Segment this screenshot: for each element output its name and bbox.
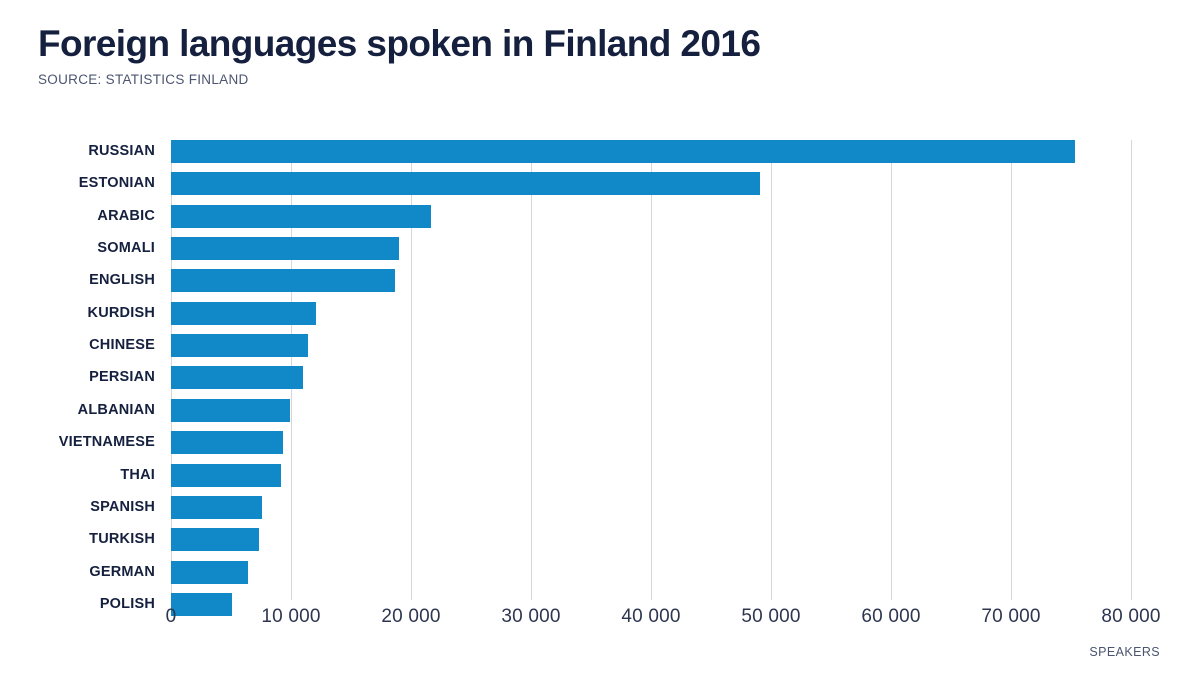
category-label: VIETNAMESE [0,431,155,454]
chart-source-note: SOURCE: STATISTICS FINLAND [38,72,1158,87]
category-label: ESTONIAN [0,172,155,195]
category-label: RUSSIAN [0,140,155,163]
bar [171,269,395,292]
x-tick-label: 60 000 [831,606,951,628]
bar-row: ARABIC [0,205,1200,228]
bar [171,399,290,422]
category-label: KURDISH [0,302,155,325]
x-tick-label: 50 000 [711,606,831,628]
bar-row: GERMAN [0,561,1200,584]
category-label: THAI [0,464,155,487]
page-title: Foreign languages spoken in Finland 2016 [38,22,1158,66]
chart-page: Foreign languages spoken in Finland 2016… [0,0,1200,675]
category-label: ENGLISH [0,269,155,292]
chart-header: Foreign languages spoken in Finland 2016… [38,22,1158,87]
bar [171,172,760,195]
x-tick-label: 10 000 [231,606,351,628]
x-axis: 010 00020 00030 00040 00050 00060 00070 … [0,606,1200,646]
category-label: GERMAN [0,561,155,584]
bar-row: ALBANIAN [0,399,1200,422]
category-label: CHINESE [0,334,155,357]
bar [171,431,283,454]
bar-row: THAI [0,464,1200,487]
bar [171,334,308,357]
category-label: SPANISH [0,496,155,519]
x-tick-label: 20 000 [351,606,471,628]
x-tick-label: 70 000 [951,606,1071,628]
plot-area: RUSSIANESTONIANARABICSOMALIENGLISHKURDIS… [0,136,1200,606]
category-label: ALBANIAN [0,399,155,422]
category-label: PERSIAN [0,366,155,389]
bar [171,205,431,228]
category-label: ARABIC [0,205,155,228]
bar [171,561,248,584]
bar-row: RUSSIAN [0,140,1200,163]
bar-row: ESTONIAN [0,172,1200,195]
bar-row: KURDISH [0,302,1200,325]
x-tick-label: 40 000 [591,606,711,628]
bar-row: SOMALI [0,237,1200,260]
bar [171,237,399,260]
bar [171,366,303,389]
bar-row: ENGLISH [0,269,1200,292]
bar [171,140,1075,163]
bar [171,496,262,519]
x-axis-caption: SPEAKERS [1000,645,1160,659]
bar-row: SPANISH [0,496,1200,519]
bar-rows: RUSSIANESTONIANARABICSOMALIENGLISHKURDIS… [0,136,1200,606]
bar [171,464,281,487]
bar-row: PERSIAN [0,366,1200,389]
category-label: SOMALI [0,237,155,260]
x-tick-label: 0 [111,606,231,628]
x-tick-label: 30 000 [471,606,591,628]
bar [171,302,316,325]
bar [171,528,259,551]
x-tick-label: 80 000 [1071,606,1191,628]
category-label: TURKISH [0,528,155,551]
bar-row: TURKISH [0,528,1200,551]
bar-row: CHINESE [0,334,1200,357]
bar-row: VIETNAMESE [0,431,1200,454]
